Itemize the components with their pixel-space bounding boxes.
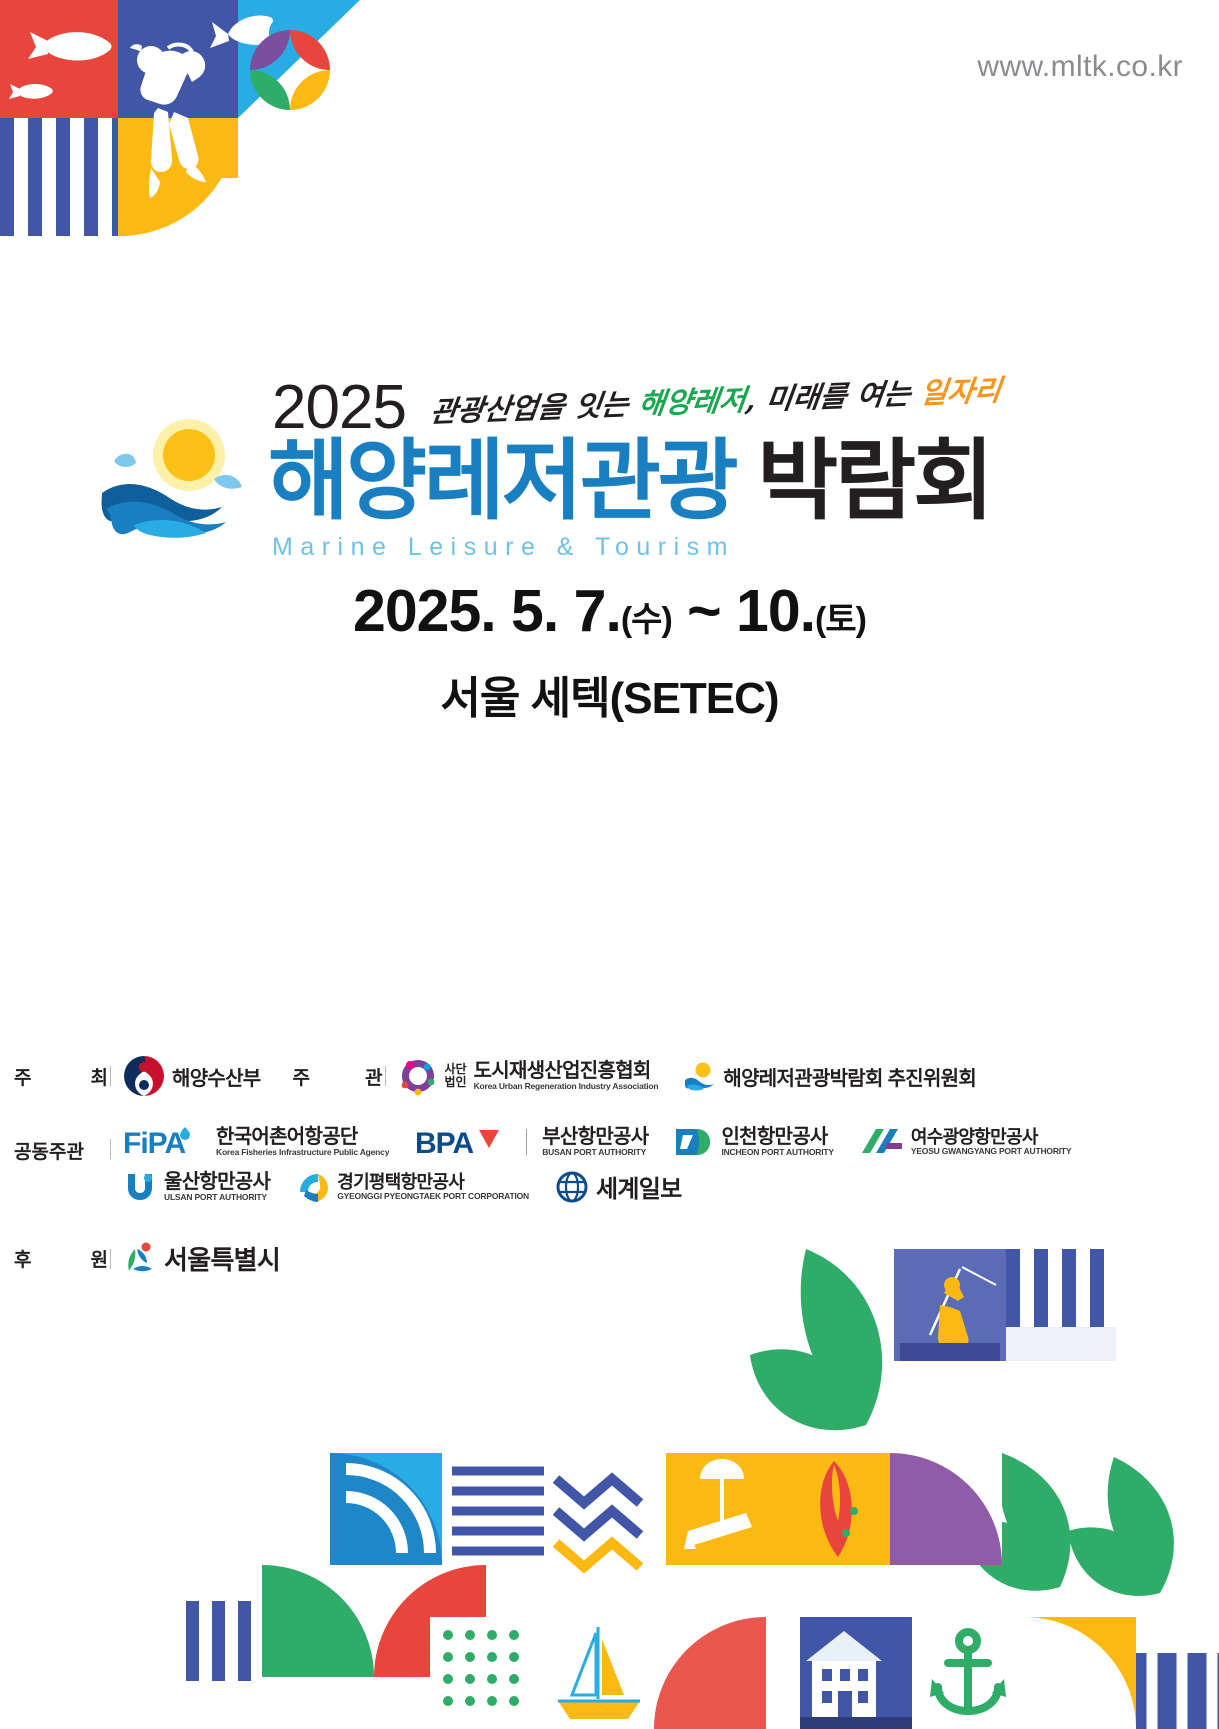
credit-label-organizer-a: 주 xyxy=(293,1063,310,1090)
logo-name-seoul: 서울특별시 xyxy=(164,1240,280,1277)
divider xyxy=(110,1249,111,1269)
fish-large-icon xyxy=(26,28,116,70)
top-left-mosaic xyxy=(0,0,360,250)
logo-name-ygpa: 여수광양항만공사 xyxy=(911,1127,1072,1147)
ipa-icon xyxy=(674,1125,714,1159)
logo-sub-upa: ULSAN PORT AUTHORITY xyxy=(164,1193,270,1203)
credit-label-sponsor: 후 원 xyxy=(0,1245,108,1272)
mosaic-green-quarter xyxy=(262,1565,374,1677)
credit-label-co-organizer: 공동주관 xyxy=(0,1125,108,1164)
ygpa-name-col: 여수광양항만공사 YEOSU GWANGYANG PORT AUTHORITY xyxy=(911,1127,1072,1157)
logo-item-seoul: 서울특별시 xyxy=(123,1240,280,1277)
credit-label-host-b: 최 xyxy=(91,1063,108,1090)
mosaic-sailboat-tile xyxy=(542,1617,654,1729)
sponsor-logos: 서울특별시 xyxy=(123,1240,280,1277)
main-title-blue: 해양레저관광 xyxy=(268,431,736,530)
kuria-name-col: 도시재생산업진흥협회 Korea Urban Regeneration Indu… xyxy=(474,1060,659,1092)
event-date-range: ~ 10. xyxy=(672,578,815,644)
credit-label-sponsor-b: 원 xyxy=(91,1245,108,1272)
divider xyxy=(110,1066,111,1086)
bottom-mosaic xyxy=(0,1249,1219,1729)
logo-name-fipa: 한국어촌어항공단 xyxy=(216,1126,389,1148)
svg-text:FiPA: FiPA xyxy=(123,1127,185,1160)
divider xyxy=(110,1139,111,1159)
gppc-name-col: 경기평택항만공사 GYEONGGI PYEONGTAEK PORT CORPOR… xyxy=(337,1172,529,1202)
mosaic-stripes-tile-lower xyxy=(186,1601,251,1681)
event-date: 2025. 5. 7.(수) ~ 10.(토) xyxy=(0,577,1219,645)
co-organizer-logo-stack: FiPA 한국어촌어항공단 Korea Fisheries Infrastruc… xyxy=(123,1125,1071,1204)
divider xyxy=(526,1129,527,1155)
credit-row-sponsor: 후 원 서울특별시 xyxy=(0,1240,1219,1277)
korea-gov-taegeuk-icon xyxy=(123,1055,165,1097)
website-url[interactable]: www.mltk.co.kr xyxy=(977,50,1183,84)
mosaic-surfboard-tile xyxy=(778,1453,890,1565)
logo-item-ipa: 인천항만공사 INCHEON PORT AUTHORITY xyxy=(674,1125,833,1159)
ygpa-icon xyxy=(860,1125,904,1159)
credit-label-organizer-b: 관 xyxy=(365,1063,382,1090)
logo-item-mof: 해양수산부 xyxy=(123,1055,261,1097)
main-title-dark: 박람회 xyxy=(736,431,991,530)
upa-name-col: 울산항만공사 ULSAN PORT AUTHORITY xyxy=(164,1171,270,1203)
logo-name-segye: 세계일보 xyxy=(596,1169,682,1204)
logo-item-ygpa: 여수광양항만공사 YEOSU GWANGYANG PORT AUTHORITY xyxy=(860,1125,1072,1159)
fipa-name-col: 한국어촌어항공단 Korea Fisheries Infrastructure … xyxy=(216,1126,389,1158)
segye-globe-icon xyxy=(555,1170,589,1204)
title-block: 2025 관광산업을 잇는 해양레저, 미래를 여는 일자리 해양레저관광 박람… xyxy=(0,365,1219,555)
petal-yellow xyxy=(290,70,330,110)
credit-row-co-organizer: 공동주관 FiPA 한국어촌어항공단 Korea Fisheries Infra… xyxy=(0,1125,1219,1204)
svg-text:BPA: BPA xyxy=(415,1127,473,1160)
ipa-name-col: 인천항만공사 INCHEON PORT AUTHORITY xyxy=(721,1126,833,1158)
credit-label-sponsor-a: 후 xyxy=(14,1245,31,1272)
logo-item-bpa: BPA 부산항만공사 BUSAN PORT AUTHORITY xyxy=(415,1126,648,1158)
logo-sub-kuria: Korea Urban Regeneration Industry Associ… xyxy=(474,1082,659,1092)
event-date-start: 2025. 5. 7. xyxy=(353,578,621,644)
mosaic-chevron-tile xyxy=(554,1453,666,1567)
logo-item-fipa: FiPA 한국어촌어항공단 Korea Fisheries Infrastruc… xyxy=(123,1125,389,1159)
year-label: 2025 xyxy=(272,377,406,439)
logo-item-mltk-committee: 해양레저관광박람회 추진위원회 xyxy=(684,1060,976,1092)
event-date-dow-start: (수) xyxy=(621,601,672,639)
gppc-icon xyxy=(296,1170,330,1204)
scuba-diver-icon xyxy=(124,38,234,218)
credits-section: 주 최 해양수산부 주 관 xyxy=(0,1055,1219,1281)
co-organizer-logos-row2: 울산항만공사 ULSAN PORT AUTHORITY 경기평택항만공사 G xyxy=(123,1169,1071,1204)
mosaic-zigzag-tile xyxy=(442,1453,554,1565)
credit-row-host-organizer: 주 최 해양수산부 주 관 xyxy=(0,1055,1219,1097)
logo-item-gppc: 경기평택항만공사 GYEONGGI PYEONGTAEK PORT CORPOR… xyxy=(296,1170,529,1204)
mosaic-village-tile xyxy=(800,1617,912,1729)
tagline-highlight-orange: 일자리 xyxy=(919,373,1004,410)
fipa-icon: FiPA xyxy=(123,1125,209,1159)
logo-name-mltk-committee: 해양레저관광박람회 추진위원회 xyxy=(723,1062,976,1091)
bpa-icon: BPA xyxy=(415,1126,511,1158)
english-subtitle: Marine Leisure & Tourism xyxy=(272,533,735,562)
tagline-part1: 관광산업을 잇는 xyxy=(429,387,641,429)
logo-name-bpa: 부산항만공사 xyxy=(542,1126,648,1148)
host-logos: 해양수산부 xyxy=(123,1055,261,1097)
event-date-dow-end: (토) xyxy=(815,601,866,639)
logo-sub-ygpa: YEOSU GWANGYANG PORT AUTHORITY xyxy=(911,1147,1072,1157)
logo-name-gppc: 경기평택항만공사 xyxy=(337,1172,529,1192)
kuria-prefix-bottom: 법인 xyxy=(445,1076,467,1089)
logo-name-kuria: 도시재생산업진흥협회 xyxy=(474,1060,659,1082)
mosaic-stripes-tile xyxy=(0,118,118,236)
divider xyxy=(385,1066,386,1086)
mosaic-light-tile xyxy=(1006,1327,1116,1361)
page-title: 해양레저관광 박람회 xyxy=(268,437,991,525)
logo-sub-gppc: GYEONGGI PYEONGTAEK PORT CORPORATION xyxy=(337,1192,529,1202)
petal-red xyxy=(290,30,330,70)
petal-purple xyxy=(250,30,290,70)
mltk-sunwave-icon xyxy=(684,1060,718,1092)
tagline-highlight-green: 해양레저 xyxy=(637,383,748,421)
logo-name-upa: 울산항만공사 xyxy=(164,1171,270,1193)
sun-and-wave-logo-icon xyxy=(96,413,276,533)
logo-sub-ipa: INCHEON PORT AUTHORITY xyxy=(721,1148,833,1158)
kuria-circle-icon xyxy=(398,1056,438,1096)
logo-sub-bpa: BUSAN PORT AUTHORITY xyxy=(542,1148,648,1158)
logo-item-upa: 울산항만공사 ULSAN PORT AUTHORITY xyxy=(123,1170,270,1204)
tagline: 관광산업을 잇는 해양레저, 미래를 여는 일자리 xyxy=(429,376,1003,427)
bpa-name-col: 부산항만공사 BUSAN PORT AUTHORITY xyxy=(542,1126,648,1158)
mosaic-anchor-tile xyxy=(912,1617,1024,1729)
seoul-city-icon xyxy=(123,1241,157,1277)
logo-item-segye: 세계일보 xyxy=(555,1169,682,1204)
kuria-prefix-col: 사단 법인 xyxy=(445,1063,467,1090)
logo-name-mof: 해양수산부 xyxy=(172,1062,261,1091)
mosaic-beach-umbrella-tile xyxy=(666,1453,778,1565)
flower-petals-icon xyxy=(250,30,330,110)
co-organizer-logos-row1: FiPA 한국어촌어항공단 Korea Fisheries Infrastruc… xyxy=(123,1125,1071,1159)
logo-item-kuria: 사단 법인 도시재생산업진흥협회 Korea Urban Regeneratio… xyxy=(398,1056,659,1096)
petal-green xyxy=(250,70,290,110)
kuria-prefix-top: 사단 xyxy=(445,1063,467,1076)
event-venue: 서울 세텍(SETEC) xyxy=(0,662,1219,726)
credit-label-host-a: 주 xyxy=(14,1063,31,1090)
logo-name-ipa: 인천항만공사 xyxy=(721,1126,833,1148)
logo-sub-fipa: Korea Fisheries Infrastructure Public Ag… xyxy=(216,1148,389,1158)
poster-root: www.mltk.co.kr 2025 관광산업을 잇는 해양레저, 미래를 여… xyxy=(0,0,1219,1729)
tagline-part2: , 미래를 여는 xyxy=(744,376,923,417)
credit-label-organizer: 주 관 xyxy=(279,1063,383,1090)
upa-icon xyxy=(123,1170,157,1204)
fish-small-icon xyxy=(8,82,54,104)
organizer-logos: 사단 법인 도시재생산업진흥협회 Korea Urban Regeneratio… xyxy=(398,1056,977,1096)
credit-label-host: 주 최 xyxy=(0,1063,108,1090)
